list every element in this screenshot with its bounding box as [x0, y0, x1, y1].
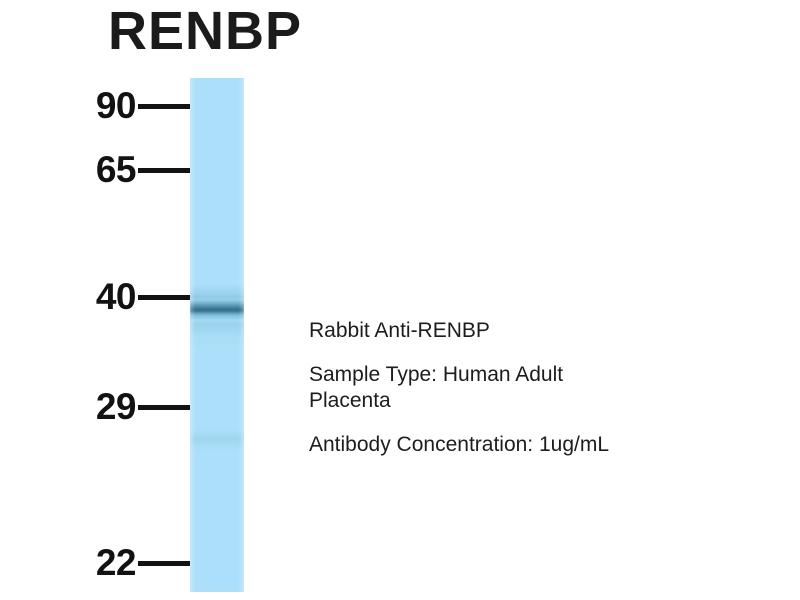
marker-29: 29: [64, 387, 190, 427]
marker-label: 29: [96, 387, 136, 427]
gel-lane: [190, 78, 244, 592]
antibody-concentration-label: Antibody Concentration: 1ug/mL: [309, 432, 749, 458]
marker-90: 90: [64, 86, 190, 126]
marker-label: 90: [96, 86, 136, 126]
sample-type-label: Sample Type: Human Adult Placenta: [309, 362, 749, 414]
marker-dash-icon: [138, 295, 190, 300]
secondary-band: [190, 430, 244, 450]
marker-22: 22: [64, 543, 190, 583]
primary-band-smear: [190, 322, 244, 348]
marker-dash-icon: [138, 561, 190, 566]
marker-dash-icon: [138, 104, 190, 109]
marker-dash-icon: [138, 405, 190, 410]
page-title: RENBP: [108, 2, 302, 60]
marker-65: 65: [64, 150, 190, 190]
primary-band: [190, 294, 244, 324]
marker-label: 22: [96, 543, 136, 583]
western-blot-figure: RENBP 90 65 40 29 22 Ra: [0, 0, 800, 600]
marker-40: 40: [64, 277, 190, 317]
marker-label: 40: [96, 277, 136, 317]
marker-dash-icon: [138, 168, 190, 173]
marker-label: 65: [96, 150, 136, 190]
antibody-label: Rabbit Anti-RENBP: [309, 318, 749, 344]
annotation-block: Rabbit Anti-RENBP Sample Type: Human Adu…: [309, 318, 749, 458]
